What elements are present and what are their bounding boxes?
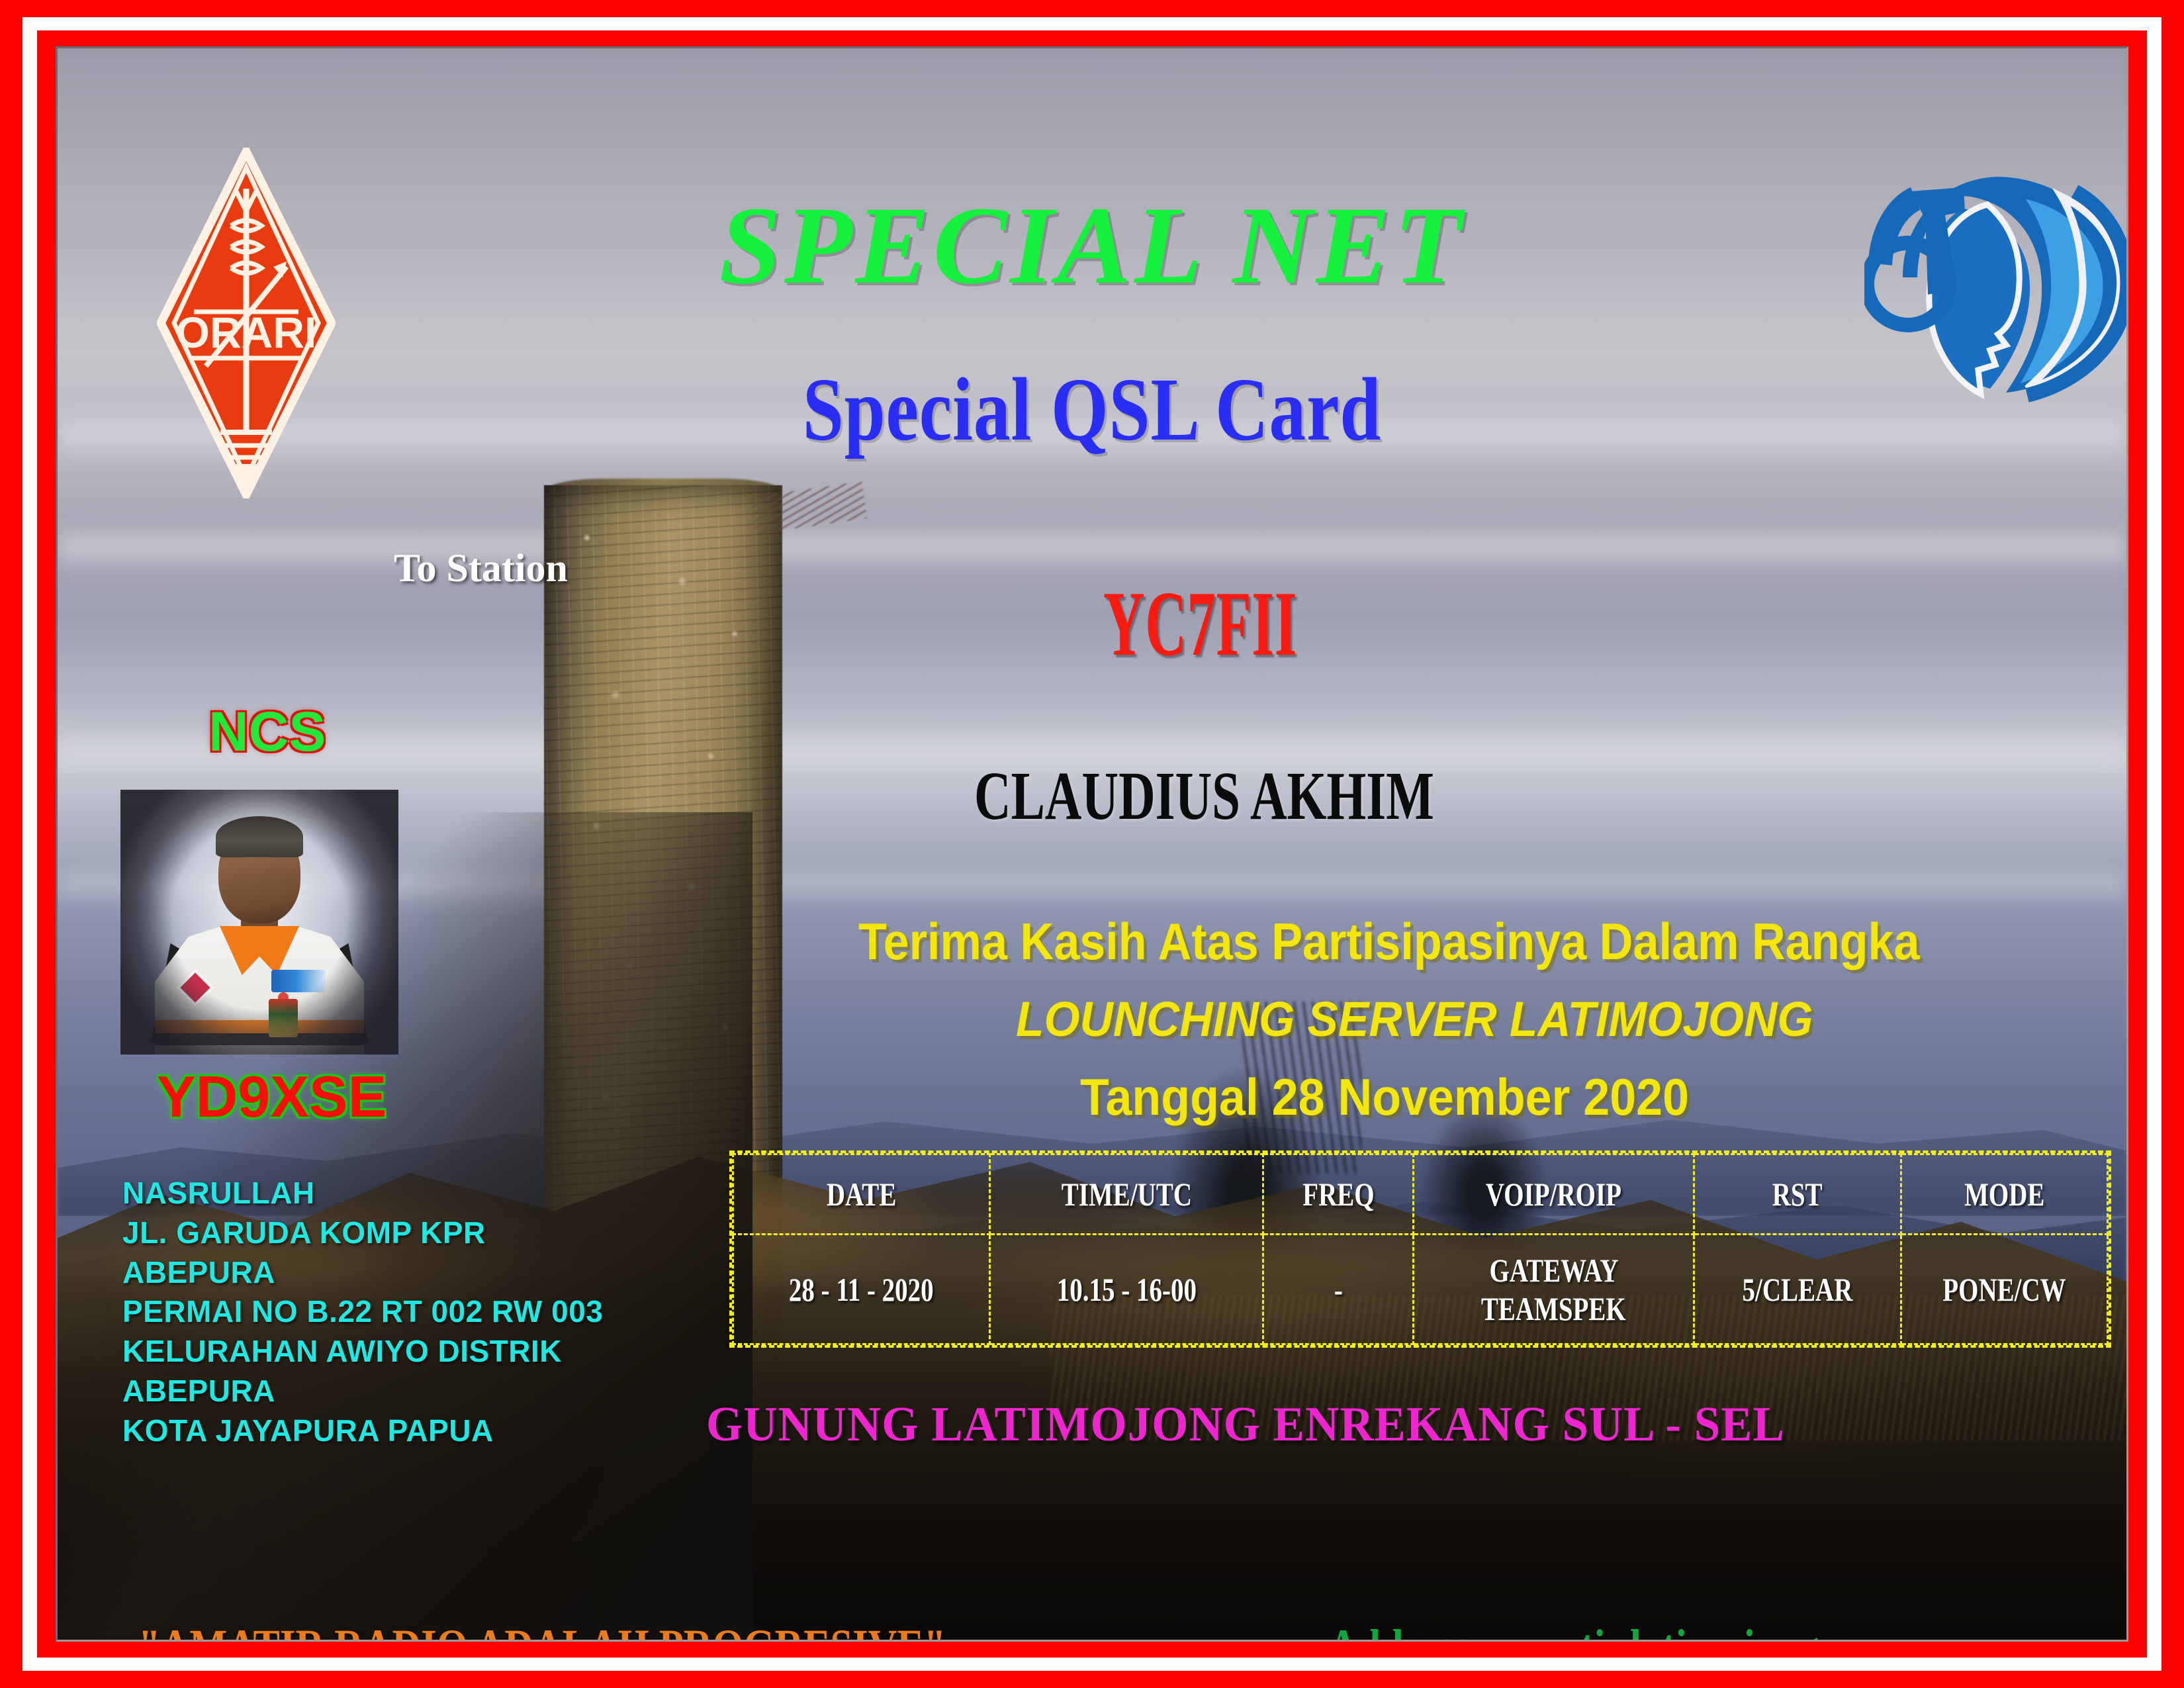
address-line: KOTA JAYAPURA PAPUA: [122, 1411, 603, 1451]
table-header-row: DATE TIME/UTC FREQ VOIP/ROIP RST MODE: [733, 1154, 2108, 1235]
qsl-card: ORARI: [0, 0, 2184, 1688]
address-line: ABEPURA: [122, 1253, 603, 1293]
to-station-label: To Station: [394, 548, 568, 588]
orari-logo-text: ORARI: [176, 308, 317, 357]
ncs-role-label: NCS: [208, 704, 326, 759]
mountain-caption: GUNUNG LATIMOJONG ENREKANG SUL - SEL: [706, 1400, 1785, 1449]
cell-freq: -: [1263, 1235, 1414, 1344]
mailing-address-block: NASRULLAH JL. GARUDA KOMP KPR ABEPURA PE…: [122, 1174, 603, 1451]
cell-voip: GATEWAY TEAMSPEK: [1414, 1235, 1694, 1344]
web-address-text: Address : amatir.latimojong.com: [1328, 1622, 1902, 1642]
ncs-callsign: YD9XSE: [157, 1068, 387, 1126]
table-header-date: DATE: [733, 1154, 990, 1235]
cell-mode: PONE/CW: [1901, 1235, 2107, 1344]
thanks-line-3: Tanggal 28 November 2020: [1080, 1071, 1689, 1123]
address-line: NASRULLAH: [122, 1174, 603, 1213]
table-header-mode: MODE: [1901, 1154, 2107, 1235]
card-photo-area: ORARI: [56, 46, 2128, 1642]
cell-date: 28 - 11 - 2020: [733, 1235, 990, 1344]
cell-time: 10.15 - 16-00: [989, 1235, 1263, 1344]
station-callsign: YC7FII: [1103, 578, 1297, 671]
table-header-rst: RST: [1694, 1154, 1901, 1235]
page-subtitle: Special QSL Card: [244, 365, 1940, 455]
table-header-voip: VOIP/ROIP: [1414, 1154, 1694, 1235]
page-title: SPECIAL NET: [58, 190, 2126, 301]
cell-rst: 5/CLEAR: [1694, 1235, 1901, 1344]
slogan-text: "AMATIR RADIO ADALAH PROGRESIVE": [138, 1622, 946, 1642]
address-line: JL. GARUDA KOMP KPR: [122, 1213, 603, 1253]
table-header-freq: FREQ: [1263, 1154, 1414, 1235]
address-line: KELURAHAN AWIYO DISTRIK: [122, 1332, 603, 1372]
operator-name: CLAUDIUS AKHIM: [974, 762, 1434, 831]
cloud-band: [58, 525, 2126, 571]
address-line: ABEPURA: [122, 1372, 603, 1411]
table-header-time: TIME/UTC: [989, 1154, 1263, 1235]
qso-log-table: DATE TIME/UTC FREQ VOIP/ROIP RST MODE 28…: [729, 1150, 2111, 1348]
thanks-line-2: LOUNCHING SERVER LATIMOJONG: [1016, 995, 1813, 1044]
thanks-line-1: Terima Kasih Atas Partisipasinya Dalam R…: [858, 915, 1920, 967]
address-line: PERMAI NO B.22 RT 002 RW 003: [122, 1292, 603, 1332]
ncs-operator-photo: [120, 790, 398, 1055]
table-row: 28 - 11 - 2020 10.15 - 16-00 - GATEWAY T…: [733, 1235, 2108, 1344]
